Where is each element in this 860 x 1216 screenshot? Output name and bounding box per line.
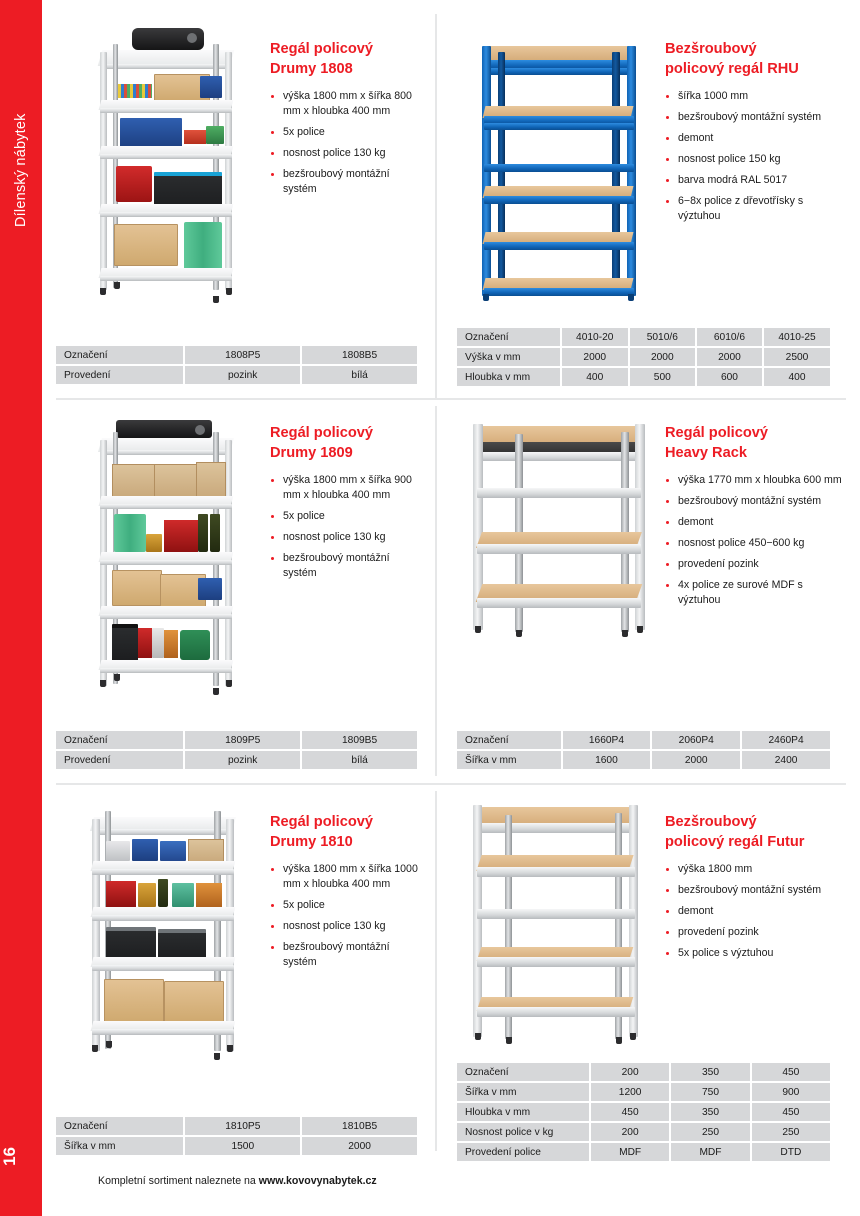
product-features-futur: výška 1800 mm bezšroubový montážní systé… <box>665 862 845 961</box>
cell-value: 450 <box>752 1063 830 1081</box>
cell-value: 200 <box>591 1063 669 1081</box>
feature-item: bezšroubový montážní systém <box>270 167 422 197</box>
cell-value: MDF <box>671 1143 749 1161</box>
feature-item: demont <box>665 904 845 919</box>
spec-table-drumy-1808: Označení 1808P5 1808B5 Provedení pozink … <box>54 344 419 386</box>
cell-value: 1200 <box>591 1083 669 1101</box>
row-label: Nosnost police v kg <box>457 1123 589 1141</box>
feature-item: výška 1800 mm x šířka 900 mm x hloubka 4… <box>270 473 422 503</box>
cell-value: 2400 <box>742 751 830 769</box>
category-rail: Dílenský nábytek 16 <box>0 0 42 1216</box>
product-info-rhu: Bezšroubový policový regál RHU šířka 100… <box>665 40 840 230</box>
row-label: Označení <box>457 1063 589 1081</box>
product-title-heavy-rack: Regál policový Heavy Rack <box>665 424 845 464</box>
product-image-rhu <box>457 24 662 309</box>
row-label: Označení <box>56 1117 183 1135</box>
cell-value: 1808P5 <box>185 346 300 364</box>
cell-value: 400 <box>764 368 830 386</box>
product-features-drumy-1810: výška 1800 mm x šířka 1000 mm x hloubka … <box>270 862 422 970</box>
cell-value: 2460P4 <box>742 731 830 749</box>
cell-value: 2000 <box>630 348 695 366</box>
table-row: Šířka v mm 1600 2000 2400 <box>457 751 830 769</box>
cell-value: 250 <box>752 1123 830 1141</box>
feature-item: provedení pozink <box>665 557 845 572</box>
row-label: Hloubka v mm <box>457 1103 589 1121</box>
cell-value: 1600 <box>563 751 651 769</box>
spec-table-drumy-1810: Označení 1810P5 1810B5 Šířka v mm 1500 2… <box>54 1115 419 1157</box>
cell-value: 900 <box>752 1083 830 1101</box>
feature-item: 6−8x police z dřevotřísky s výztuhou <box>665 194 840 224</box>
cell-value: 1660P4 <box>563 731 651 749</box>
product-image-drumy-1808 <box>64 22 264 312</box>
product-features-drumy-1809: výška 1800 mm x šířka 900 mm x hloubka 4… <box>270 473 422 581</box>
cell-value: 1809P5 <box>185 731 300 749</box>
cell-value: MDF <box>591 1143 669 1161</box>
row-label: Provedení police <box>457 1143 589 1161</box>
cell-value: 1810P5 <box>185 1117 300 1135</box>
cell-value: 1810B5 <box>302 1117 417 1135</box>
grid-divider-vertical-3 <box>435 791 437 1151</box>
feature-item: 5x police <box>270 125 422 140</box>
row-label: Hloubka v mm <box>457 368 560 386</box>
cell-value: 450 <box>591 1103 669 1121</box>
product-image-drumy-1809 <box>64 412 264 702</box>
table-row: Šířka v mm 1500 2000 <box>56 1137 417 1155</box>
product-title-drumy-1808: Regál policový Drumy 1808 <box>270 40 422 80</box>
cell-value: 400 <box>562 368 628 386</box>
footer-website[interactable]: www.kovovynabytek.cz <box>259 1175 377 1187</box>
product-features-drumy-1808: výška 1800 mm x šířka 800 mm x hloubka 4… <box>270 89 422 197</box>
feature-item: nosnost police 150 kg <box>665 152 840 167</box>
cell-value: 500 <box>630 368 695 386</box>
catalog-page: Regál policový Drumy 1808 výška 1800 mm … <box>42 0 860 1216</box>
table-row: Šířka v mm 1200 750 900 <box>457 1083 830 1101</box>
product-image-heavy-rack <box>451 424 666 674</box>
spec-table-futur: Označení 200 350 450 Šířka v mm 1200 750… <box>455 1061 832 1163</box>
product-info-futur: Bezšroubový policový regál Futur výška 1… <box>665 813 845 967</box>
row-label: Označení <box>457 328 560 346</box>
table-row: Výška v mm 2000 2000 2000 2500 <box>457 348 830 366</box>
cell-value: 2000 <box>562 348 628 366</box>
table-row: Označení 200 350 450 <box>457 1063 830 1081</box>
row-label: Výška v mm <box>457 348 560 366</box>
cell-value: 350 <box>671 1063 749 1081</box>
row-label: Provedení <box>56 366 183 384</box>
feature-item: 4x police ze surové MDF s výztuhou <box>665 578 845 608</box>
table-row: Označení 1660P4 2060P4 2460P4 <box>457 731 830 749</box>
cell-value: 2000 <box>302 1137 417 1155</box>
footer-text: Kompletní sortiment naleznete na <box>98 1175 259 1187</box>
table-row: Nosnost police v kg 200 250 250 <box>457 1123 830 1141</box>
cell-value: 6010/6 <box>697 328 762 346</box>
feature-item: demont <box>665 515 845 530</box>
cell-value: bílá <box>302 366 417 384</box>
product-card-drumy-1808: Regál policový Drumy 1808 výška 1800 mm … <box>42 14 435 398</box>
product-title-drumy-1810: Regál policový Drumy 1810 <box>270 813 422 853</box>
product-info-drumy-1810: Regál policový Drumy 1810 výška 1800 mm … <box>270 813 422 976</box>
row-label: Označení <box>56 731 183 749</box>
cell-value: 1808B5 <box>302 346 417 364</box>
product-info-drumy-1808: Regál policový Drumy 1808 výška 1800 mm … <box>270 40 422 203</box>
product-info-drumy-1809: Regál policový Drumy 1809 výška 1800 mm … <box>270 424 422 587</box>
feature-item: bezšroubový montážní systém <box>270 551 422 581</box>
row-label: Označení <box>457 731 561 749</box>
product-card-drumy-1809: Regál policový Drumy 1809 výška 1800 mm … <box>42 406 435 776</box>
table-row: Provedení police MDF MDF DTD <box>457 1143 830 1161</box>
feature-item: výška 1800 mm <box>665 862 845 877</box>
product-image-drumy-1810 <box>64 805 264 1085</box>
feature-item: nosnost police 450−600 kg <box>665 536 845 551</box>
grid-divider-vertical-1 <box>435 14 437 398</box>
cell-value: 4010-25 <box>764 328 830 346</box>
spec-table-rhu: Označení 4010-20 5010/6 6010/6 4010-25 V… <box>455 326 832 388</box>
feature-item: bezšroubový montážní systém <box>665 883 845 898</box>
table-row: Označení 1808P5 1808B5 <box>56 346 417 364</box>
table-row: Provedení pozink bílá <box>56 751 417 769</box>
cell-value: pozink <box>185 751 300 769</box>
table-row: Hloubka v mm 400 500 600 400 <box>457 368 830 386</box>
grid-divider-horizontal-2 <box>56 783 846 785</box>
row-label: Šířka v mm <box>56 1137 183 1155</box>
feature-item: výška 1800 mm x šířka 1000 mm x hloubka … <box>270 862 422 892</box>
feature-item: výška 1800 mm x šířka 800 mm x hloubka 4… <box>270 89 422 119</box>
product-title-drumy-1809: Regál policový Drumy 1809 <box>270 424 422 464</box>
cell-value: 600 <box>697 368 762 386</box>
row-label: Šířka v mm <box>457 1083 589 1101</box>
cell-value: 350 <box>671 1103 749 1121</box>
table-row: Provedení pozink bílá <box>56 366 417 384</box>
cell-value: 750 <box>671 1083 749 1101</box>
cell-value: 1809B5 <box>302 731 417 749</box>
feature-item: nosnost police 130 kg <box>270 919 422 934</box>
cell-value: 4010-20 <box>562 328 628 346</box>
cell-value: 450 <box>752 1103 830 1121</box>
feature-item: barva modrá RAL 5017 <box>665 173 840 188</box>
product-features-heavy-rack: výška 1770 mm x hloubka 600 mm bezšroubo… <box>665 473 845 608</box>
page-number: 16 <box>0 1147 42 1166</box>
feature-item: 5x police <box>270 509 422 524</box>
cell-value: 200 <box>591 1123 669 1141</box>
feature-item: 5x police <box>270 898 422 913</box>
row-label: Šířka v mm <box>457 751 561 769</box>
row-label: Provedení <box>56 751 183 769</box>
cell-value: pozink <box>185 366 300 384</box>
feature-item: šířka 1000 mm <box>665 89 840 104</box>
spec-table-drumy-1809: Označení 1809P5 1809B5 Provedení pozink … <box>54 729 419 771</box>
product-info-heavy-rack: Regál policový Heavy Rack výška 1770 mm … <box>665 424 845 614</box>
product-card-futur: Bezšroubový policový regál Futur výška 1… <box>443 791 860 1156</box>
cell-value: 5010/6 <box>630 328 695 346</box>
feature-item: výška 1770 mm x hloubka 600 mm <box>665 473 845 488</box>
product-title-futur: Bezšroubový policový regál Futur <box>665 813 845 853</box>
feature-item: demont <box>665 131 840 146</box>
feature-item: provedení pozink <box>665 925 845 940</box>
cell-value: 1500 <box>185 1137 300 1155</box>
spec-table-heavy-rack: Označení 1660P4 2060P4 2460P4 Šířka v mm… <box>455 729 832 771</box>
feature-item: bezšroubový montážní systém <box>665 494 845 509</box>
row-label: Označení <box>56 346 183 364</box>
category-label: Dílenský nábytek <box>0 45 42 295</box>
product-image-futur <box>453 801 658 1056</box>
table-row: Označení 4010-20 5010/6 6010/6 4010-25 <box>457 328 830 346</box>
product-features-rhu: šířka 1000 mm bezšroubový montážní systé… <box>665 89 840 224</box>
footer-note: Kompletní sortiment naleznete na www.kov… <box>98 1175 377 1187</box>
product-card-heavy-rack: Regál policový Heavy Rack výška 1770 mm … <box>443 406 860 776</box>
feature-item: 5x police s výztuhou <box>665 946 845 961</box>
product-card-drumy-1810: Regál policový Drumy 1810 výška 1800 mm … <box>42 791 435 1156</box>
grid-divider-horizontal-1 <box>56 398 846 400</box>
cell-value: 2000 <box>697 348 762 366</box>
grid-divider-vertical-2 <box>435 406 437 776</box>
cell-value: 2000 <box>652 751 740 769</box>
feature-item: nosnost police 130 kg <box>270 146 422 161</box>
product-title-rhu: Bezšroubový policový regál RHU <box>665 40 840 80</box>
feature-item: bezšroubový montážní systém <box>270 940 422 970</box>
table-row: Hloubka v mm 450 350 450 <box>457 1103 830 1121</box>
cell-value: 2060P4 <box>652 731 740 749</box>
cell-value: 2500 <box>764 348 830 366</box>
cell-value: DTD <box>752 1143 830 1161</box>
cell-value: 250 <box>671 1123 749 1141</box>
feature-item: bezšroubový montážní systém <box>665 110 840 125</box>
table-row: Označení 1810P5 1810B5 <box>56 1117 417 1135</box>
table-row: Označení 1809P5 1809B5 <box>56 731 417 749</box>
product-card-rhu: Bezšroubový policový regál RHU šířka 100… <box>443 14 860 398</box>
cell-value: bílá <box>302 751 417 769</box>
feature-item: nosnost police 130 kg <box>270 530 422 545</box>
